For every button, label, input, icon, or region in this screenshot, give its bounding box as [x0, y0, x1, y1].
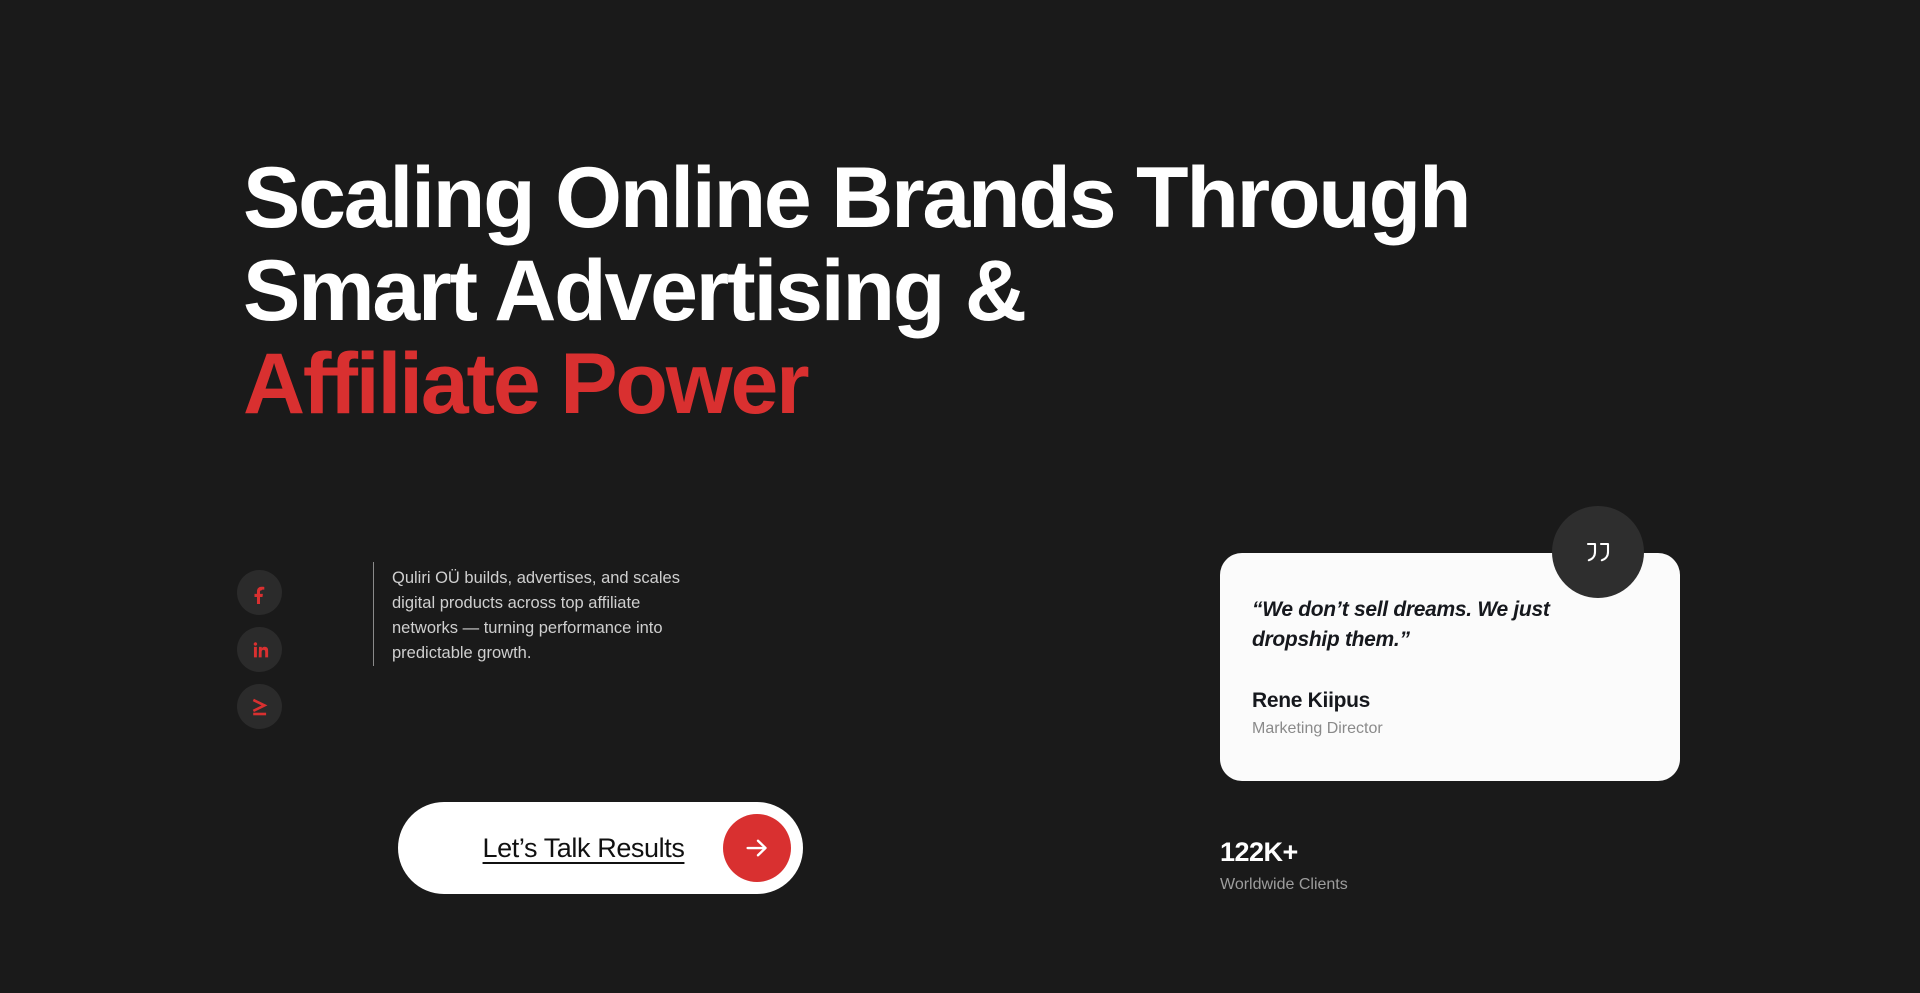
- greater-than-equal-icon: [248, 695, 272, 719]
- social-links-rail: [237, 570, 282, 729]
- hero-section: Scaling Online Brands Through Smart Adve…: [0, 0, 1920, 993]
- intro-divider: [373, 562, 374, 666]
- headline-line-1: Scaling Online Brands Through: [243, 152, 1469, 245]
- stat-label: Worldwide Clients: [1220, 876, 1348, 894]
- linkedin-icon: [249, 639, 271, 661]
- intro-block: Quliri OÜ builds, advertises, and scales…: [373, 562, 688, 666]
- page-title: Scaling Online Brands Through Smart Adve…: [243, 152, 1469, 431]
- testimonial-quote: “We don’t sell dreams. We just dropship …: [1252, 595, 1612, 655]
- quote-marks-icon: [1552, 506, 1644, 598]
- stat-value: 122K+: [1220, 837, 1348, 868]
- intro-paragraph: Quliri OÜ builds, advertises, and scales…: [392, 562, 688, 666]
- social-link-medium[interactable]: [237, 684, 282, 729]
- headline-line-2: Smart Advertising &: [243, 245, 1469, 338]
- facebook-icon: [249, 582, 271, 604]
- testimonial-author-role: Marketing Director: [1252, 720, 1648, 738]
- cta-label: Let’s Talk Results: [398, 833, 723, 864]
- testimonial-author-name: Rene Kiipus: [1252, 689, 1648, 713]
- headline-line-3-accent: Affiliate Power: [243, 338, 1469, 431]
- social-link-linkedin[interactable]: [237, 627, 282, 672]
- social-link-facebook[interactable]: [237, 570, 282, 615]
- lets-talk-results-button[interactable]: Let’s Talk Results: [398, 802, 803, 894]
- arrow-right-icon[interactable]: [723, 814, 791, 882]
- stat-block: 122K+ Worldwide Clients: [1220, 837, 1348, 894]
